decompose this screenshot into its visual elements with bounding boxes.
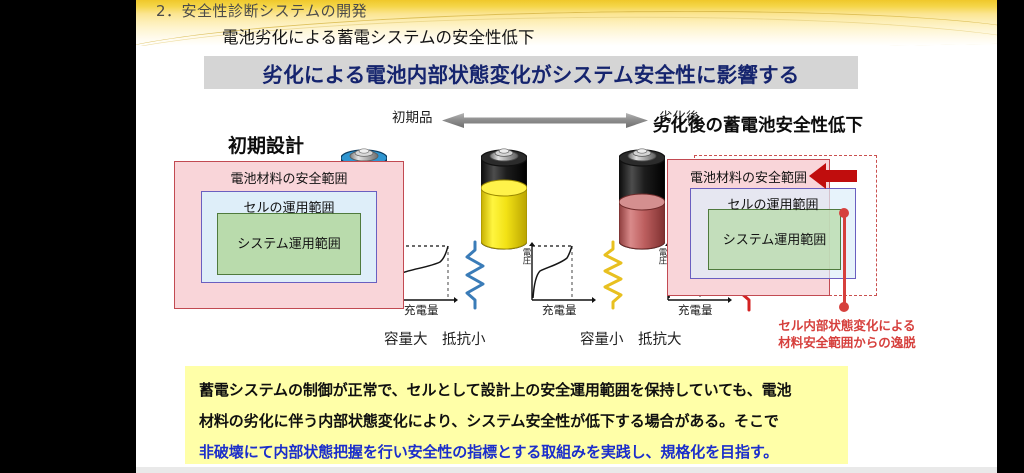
slide-root: 2．安全性診断システムの開発 電池劣化による蓄電システムの安全性低下 劣化による… (0, 0, 1024, 473)
double-headed-arrow-icon (442, 113, 648, 128)
mid-battery (481, 146, 527, 254)
left-cell-operating-range-label: セルの運用範囲 (174, 197, 404, 216)
banner-title: 劣化による電池内部状態変化がシステム安全性に影響する (204, 56, 858, 89)
callout-end-dot (839, 302, 849, 312)
impedance-squiggle-blue-icon (464, 240, 486, 314)
summary-line-2: 材料の劣化に伴う内部状態変化により、システム安全性が低下する場合がある。そこで (199, 406, 834, 437)
left-diagram-title: 初期設計 (228, 131, 304, 158)
summary-box: 蓄電システムの制御が正常で、セルとして設計上の安全運用範囲を保持していても、電池… (185, 366, 848, 464)
deviation-callout-line2: 材料安全範囲からの逸脱 (732, 335, 962, 352)
right-system-operating-range-label: システム運用範囲 (708, 229, 841, 248)
impedance-squiggle-yellow-icon (602, 240, 624, 314)
right-diagram-title: 劣化後の蓄電池安全性低下 (653, 112, 863, 137)
summary-line-3: 非破壊にて内部状態把握を行い安全性の指標とする取組みを実践し、規格化を目指す。 (199, 437, 834, 468)
slide-canvas: 2．安全性診断システムの開発 電池劣化による蓄電システムの安全性低下 劣化による… (136, 0, 997, 473)
right-cell-operating-range-label: セルの運用範囲 (690, 194, 856, 213)
summary-line-1: 蓄電システムの制御が正常で、セルとして設計上の安全運用範囲を保持していても、電池 (199, 375, 834, 406)
slide-bottom-strip (136, 467, 997, 473)
chart-mid-y-label: 電圧 (520, 248, 532, 264)
label-initial-product: 初期品 (392, 106, 433, 126)
capacity-label-left: 容量大 抵抗小 (384, 328, 486, 349)
letterbox-left (0, 0, 135, 473)
left-diagram: 電池材料の安全範囲 セルの運用範囲 システム運用範囲 (174, 161, 404, 309)
left-system-operating-range-label: システム運用範囲 (174, 233, 404, 252)
header-section-label: 2．安全性診断システムの開発 (156, 0, 367, 21)
deviation-callout-line1: セル内部状態変化による (732, 318, 962, 335)
capacity-label-right: 容量小 抵抗大 (580, 328, 682, 349)
right-material-safety-range-label: 電池材料の安全範囲 (667, 167, 830, 186)
subject-line: 電池劣化による蓄電システムの安全性低下 (222, 24, 535, 48)
chart-mid: 電圧 充電量 (524, 242, 596, 308)
chart-initial-x-label: 充電量 (404, 302, 439, 318)
left-material-safety-range-label: 電池材料の安全範囲 (174, 168, 404, 187)
chart-mid-x-label: 充電量 (542, 302, 577, 318)
left-pointing-red-arrow-icon (809, 162, 857, 190)
callout-leader-line (843, 212, 846, 308)
deviation-callout: セル内部状態変化による 材料安全範囲からの逸脱 (732, 318, 962, 351)
letterbox-right (997, 0, 1024, 473)
degraded-battery (619, 146, 665, 254)
